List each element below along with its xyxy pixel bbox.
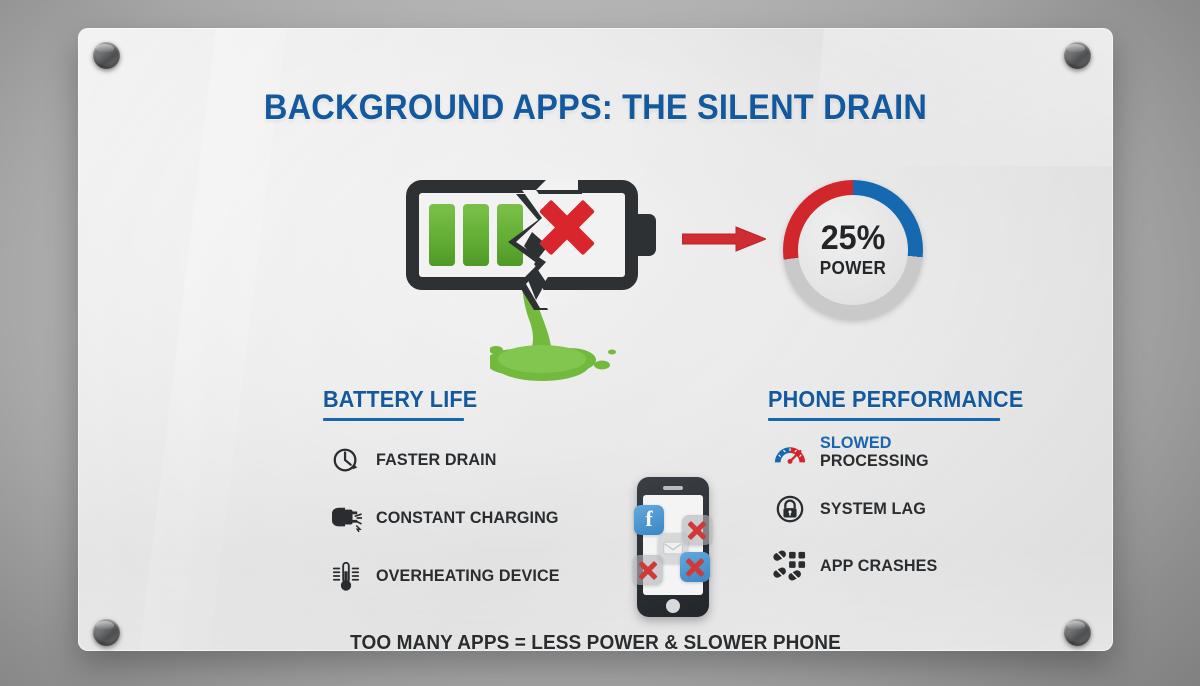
red-x-icon [637,559,659,581]
list-item-label: FASTER DRAIN [376,451,496,469]
list-item: APP CRASHES [770,546,1060,586]
clock-icon [326,440,366,480]
plug-icon [326,498,366,538]
battery-cap [638,214,656,256]
facebook-app-tile: f [634,505,664,535]
envelope-icon [663,541,683,555]
lock-icon [770,489,810,529]
red-x-icon [532,192,602,262]
thermometer-icon [326,556,366,596]
list-item: SLOWED PROCESSING [770,432,1060,472]
page-title: BACKGROUND APPS: THE SILENT DRAIN [114,88,1077,128]
panel-mount-stud-bottom-right [1064,619,1091,646]
list-item: SYSTEM LAG [770,489,1060,529]
power-label: POWER [820,258,887,279]
power-gauge-center: 25% POWER [798,195,908,305]
heading-phone-performance: PHONE PERFORMANCE [768,386,1023,421]
broken-apps-icon [770,546,810,586]
list-item: OVERHEATING DEVICE [326,556,606,596]
battery-life-feature-list: FASTER DRAIN CONSTANT CHARGING [326,440,606,614]
list-item-label: OVERHEATING DEVICE [376,567,560,585]
speedometer-icon [770,432,810,472]
crashed-app-tile-gray-2 [633,555,663,585]
heading-underline [768,418,1000,421]
list-item: FASTER DRAIN [326,440,606,480]
glass-infographic-panel: BACKGROUND APPS: THE SILENT DRAIN [78,28,1113,651]
battery-level-bar-2 [463,204,489,266]
power-gauge-donut: 25% POWER [783,180,923,320]
phone-performance-feature-list: SLOWED PROCESSING SYSTEM LAG [770,432,1060,603]
panel-mount-stud-bottom-left [93,619,120,646]
battery-level-bar-1 [429,204,455,266]
broken-leaking-battery-icon [406,180,656,290]
red-x-icon [684,556,706,578]
heading-battery-life: BATTERY LIFE [323,386,477,421]
panel-mount-stud-top-right [1064,42,1091,69]
red-right-arrow-icon [682,226,766,252]
heading-phone-performance-text: PHONE PERFORMANCE [768,386,1023,412]
heading-battery-life-text: BATTERY LIFE [323,386,477,412]
list-item-label-main: PROCESSING [820,451,929,470]
smartphone-icon: f [637,477,709,617]
facebook-glyph: f [645,508,652,530]
footer-statement: TOO MANY APPS = LESS POWER & SLOWER PHON… [104,632,1087,651]
crashed-app-tile-blue [680,552,710,582]
panel-mount-stud-top-left [93,42,120,69]
red-x-icon [686,519,708,541]
list-item-label: SYSTEM LAG [820,500,926,518]
list-item-label: APP CRASHES [820,557,937,575]
list-item-label: CONSTANT CHARGING [376,509,559,527]
list-item: CONSTANT CHARGING [326,498,606,538]
phone-home-button [666,599,680,613]
list-item-label: SLOWED PROCESSING [820,434,929,471]
power-percent-value: 25% [821,221,886,255]
list-item-label-accent: SLOWED [820,434,929,452]
heading-underline [323,418,464,421]
phone-speaker [663,486,683,490]
